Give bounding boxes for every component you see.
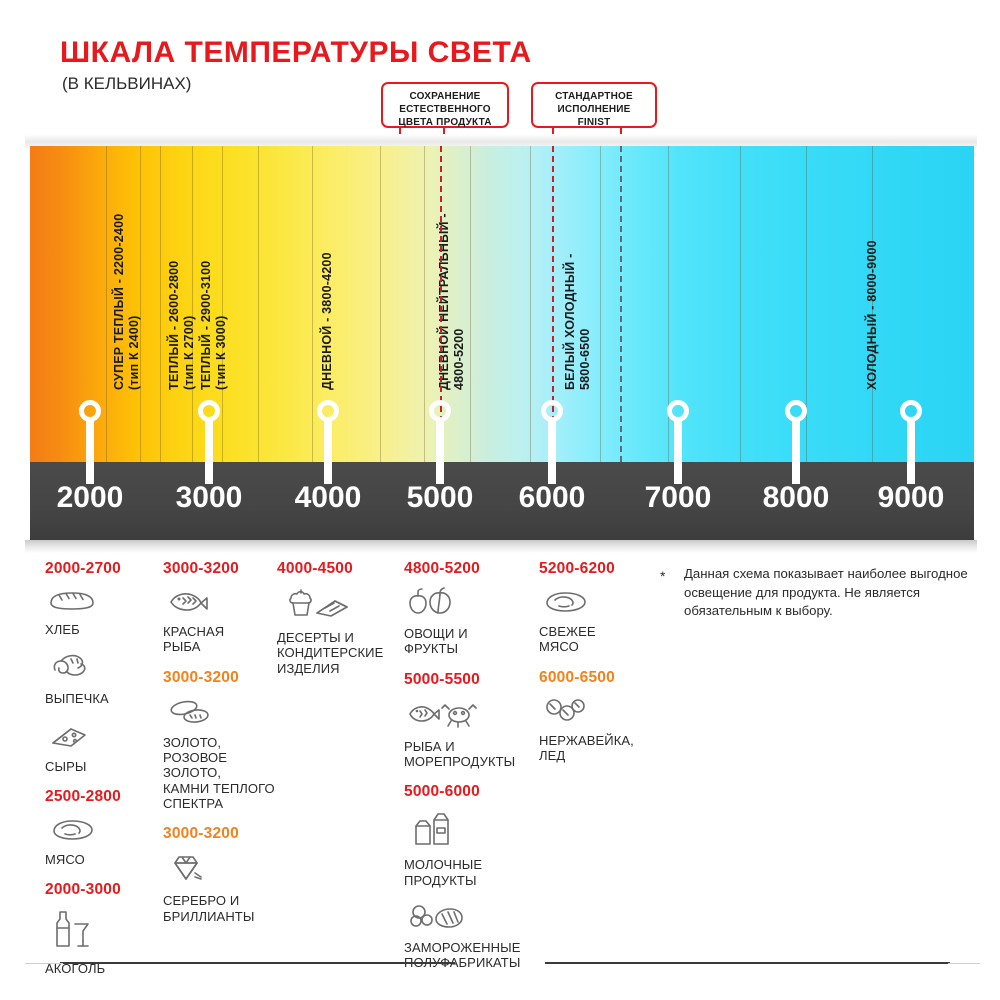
- rings-icon: [165, 696, 281, 731]
- footnote-asterisk: *: [660, 567, 665, 587]
- legend-item-label-line: СЫРЫ: [45, 759, 155, 774]
- marker-stem: [674, 420, 682, 484]
- scale-number-4000: 4000: [273, 481, 383, 515]
- infographic-root: ШКАЛА ТЕМПЕРАТУРЫ СВЕТА (В КЕЛЬВИНАХ) СО…: [0, 0, 1000, 1000]
- spectrum-divider: [258, 146, 259, 462]
- legend-group: 4800-5200ОВОЩИ ИФРУКТЫ: [404, 560, 534, 657]
- legend-column-5: 5200-6200СВЕЖЕЕМЯСО6000-6500НЕРЖАВЕЙКА,Л…: [539, 560, 657, 777]
- diamond-icon: [165, 852, 281, 889]
- legend-group: 5200-6200СВЕЖЕЕМЯСО: [539, 560, 657, 655]
- spectrum-divider: [424, 146, 425, 462]
- legend-item-label: РЫБА ИМОРЕПРОДУКТЫ: [404, 739, 534, 770]
- footnote: * Данная схема показывает наиболее выгод…: [660, 565, 980, 621]
- legend-item: РЫБА ИМОРЕПРОДУКТЫ: [404, 698, 534, 770]
- spectrum-divider: [740, 146, 741, 462]
- legend-item-label-line: ИЗДЕЛИЯ: [277, 661, 395, 676]
- legend-item-label-line: СВЕЖЕЕ: [539, 624, 657, 639]
- scale-number-8000: 8000: [741, 481, 851, 515]
- legend-group: 2000-2700ХЛЕБВЫПЕЧКАСЫРЫ: [45, 560, 155, 774]
- spectrum-dashline-standard-right: [620, 146, 622, 462]
- legend-item-label: СЕРЕБРО ИБРИЛЛИАНТЫ: [163, 893, 281, 924]
- legend-item-label-line: РОЗОВОЕ ЗОЛОТО,: [163, 750, 281, 781]
- page-title: ШКАЛА ТЕМПЕРАТУРЫ СВЕТА: [60, 36, 532, 70]
- legend-column-3: 4000-4500ДЕСЕРТЫ ИКОНДИТЕРСКИЕИЗДЕЛИЯ: [277, 560, 395, 690]
- band-label-line1: ДНЕВНОЙ - 3800-4200: [320, 252, 334, 390]
- band-label-line2: (тип К 2400): [127, 214, 142, 390]
- legend-item: ОВОЩИ ИФРУКТЫ: [404, 587, 534, 657]
- legend-item-label: МОЛОЧНЫЕ ПРОДУКТЫ: [404, 857, 534, 888]
- legend-group: 5000-5500РЫБА ИМОРЕПРОДУКТЫ: [404, 671, 534, 770]
- spectrum-divider: [312, 146, 313, 462]
- bottom-rule-soft-right: [948, 963, 980, 964]
- legend-range-label: 2000-3000: [45, 881, 155, 899]
- legend-item-label-line: БРИЛЛИАНТЫ: [163, 909, 281, 924]
- spectrum-divider: [530, 146, 531, 462]
- callout-standard: СТАНДАРТНОЕИСПОЛНЕНИЕFINIST: [531, 82, 657, 128]
- legend-range-label: 2500-2800: [45, 788, 155, 806]
- legend-item: МОЛОЧНЫЕ ПРОДУКТЫ: [404, 810, 534, 888]
- spectrum-band-label-white-cold: БЕЛЫЙ ХОЛОДНЫЙ -5800-6500: [563, 253, 593, 390]
- legend-item-label: ДЕСЕРТЫ ИКОНДИТЕРСКИЕИЗДЕЛИЯ: [277, 630, 395, 676]
- band-label-line2: 5800-6500: [578, 253, 593, 390]
- marker-stem: [436, 420, 444, 484]
- marker-ring-icon: [79, 400, 101, 422]
- legend-item: СЫРЫ: [45, 720, 155, 774]
- legend-item-label-line: ДЕСЕРТЫ И: [277, 630, 395, 645]
- legend-range-label: 3000-3200: [163, 560, 281, 578]
- legend-item-label-line: КРАСНАЯ: [163, 624, 281, 639]
- legend-item: ЗАМОРОЖЕННЫЕПОЛУФАБРИКАТЫ: [404, 901, 534, 971]
- legend-item: СЕРЕБРО ИБРИЛЛИАНТЫ: [163, 852, 281, 924]
- marker-stem: [205, 420, 213, 484]
- footnote-text: Данная схема показывает наиболее выгодно…: [684, 565, 980, 621]
- legend-range-label: 5200-6200: [539, 560, 657, 578]
- callout-natural: СОХРАНЕНИЕЕСТЕСТВЕННОГОЦВЕТА ПРОДУКТА: [381, 82, 509, 128]
- bottom-rule-soft-left: [25, 963, 63, 964]
- legend-item: НЕРЖАВЕЙКА,ЛЕД: [539, 696, 657, 764]
- legend-range-label: 3000-3200: [163, 669, 281, 687]
- legend-item: КРАСНАЯРЫБА: [163, 587, 281, 655]
- legend-item-label-line: ЗАМОРОЖЕННЫЕ: [404, 940, 534, 955]
- marker-stem: [792, 420, 800, 484]
- fresh-meat-icon: [541, 587, 657, 620]
- legend-item-label-line: СЕРЕБРО И: [163, 893, 281, 908]
- band-label-line1: ТЕПЛЫЙ - 2600-2800: [167, 261, 181, 390]
- legend-item: АКОГОЛЬ: [45, 908, 155, 976]
- legend-item-label: ЗАМОРОЖЕННЫЕПОЛУФАБРИКАТЫ: [404, 940, 534, 971]
- callout-standard-line: ИСПОЛНЕНИЕ: [539, 104, 649, 117]
- legend-item-label-line: МОЛОЧНЫЕ ПРОДУКТЫ: [404, 857, 534, 888]
- legend-item-label-line: МЯСО: [45, 852, 155, 867]
- scale-number-9000: 9000: [856, 481, 966, 515]
- scale-number-2000: 2000: [35, 481, 145, 515]
- marker-stem: [86, 420, 94, 484]
- legend-item: ЗОЛОТО,РОЗОВОЕ ЗОЛОТО,КАМНИ ТЕПЛОГОСПЕКТ…: [163, 696, 281, 812]
- legend-item-label-line: ОВОЩИ И: [404, 626, 534, 641]
- legend-item: МЯСО: [45, 815, 155, 867]
- spectrum-band-label-warm-2700: ТЕПЛЫЙ - 2600-2800(тип К 2700): [167, 261, 197, 390]
- legend-range-label: 4000-4500: [277, 560, 395, 578]
- page-subtitle: (В КЕЛЬВИНАХ): [62, 74, 191, 94]
- legend-column-2: 3000-3200КРАСНАЯРЫБА3000-3200ЗОЛОТО,РОЗО…: [163, 560, 281, 938]
- scale-number-5000: 5000: [385, 481, 495, 515]
- legend-item-label: ВЫПЕЧКА: [45, 691, 155, 706]
- legend-item-label-line: ЗОЛОТО,: [163, 735, 281, 750]
- legend-item-label: КРАСНАЯРЫБА: [163, 624, 281, 655]
- legend-item-label-line: МЯСО: [539, 639, 657, 654]
- band-label-line1: ТЕПЛЫЙ - 2900-3100: [199, 261, 213, 390]
- legend-item-label: СВЕЖЕЕМЯСО: [539, 624, 657, 655]
- legend-item: ХЛЕБ: [45, 587, 155, 637]
- legend-range-label: 3000-3200: [163, 825, 281, 843]
- steak-icon: [47, 815, 155, 848]
- band-label-line1: СУПЕР ТЕПЛЫЙ - 2200-2400: [112, 214, 126, 390]
- spectrum-band-label-cold: ХОЛОДНЫЙ - 8000-9000: [865, 240, 880, 390]
- croissant-icon: [47, 650, 155, 687]
- fish-icon: [165, 587, 281, 620]
- legend-item-label-line: ХЛЕБ: [45, 622, 155, 637]
- bottom-rule-left: [60, 962, 455, 964]
- legend-item: СВЕЖЕЕМЯСО: [539, 587, 657, 655]
- legend-range-label: 5000-6000: [404, 783, 534, 801]
- marker-ring-icon: [429, 400, 451, 422]
- legend-item-label-line: НЕРЖАВЕЙКА,: [539, 733, 657, 748]
- marker-stem: [907, 420, 915, 484]
- legend-group: 3000-3200ЗОЛОТО,РОЗОВОЕ ЗОЛОТО,КАМНИ ТЕП…: [163, 669, 281, 812]
- marker-ring-icon: [785, 400, 807, 422]
- cupcake-cake-icon: [279, 587, 395, 626]
- fruits-icon: [406, 587, 534, 622]
- callout-natural-line: ЦВЕТА ПРОДУКТА: [389, 117, 501, 130]
- legend-group: 3000-3200СЕРЕБРО ИБРИЛЛИАНТЫ: [163, 825, 281, 924]
- legend-group: 4000-4500ДЕСЕРТЫ ИКОНДИТЕРСКИЕИЗДЕЛИЯ: [277, 560, 395, 676]
- spectrum-band-label-super-warm: СУПЕР ТЕПЛЫЙ - 2200-2400(тип К 2400): [112, 214, 142, 390]
- legend-item-label: ЗОЛОТО,РОЗОВОЕ ЗОЛОТО,КАМНИ ТЕПЛОГОСПЕКТ…: [163, 735, 281, 812]
- bottom-rule-right: [545, 962, 950, 964]
- spectrum-divider: [380, 146, 381, 462]
- band-label-line1: БЕЛЫЙ ХОЛОДНЫЙ -: [563, 253, 577, 390]
- legend-range-label: 2000-2700: [45, 560, 155, 578]
- legend-group: 3000-3200КРАСНАЯРЫБА: [163, 560, 281, 655]
- band-label-line1: ХОЛОДНЫЙ - 8000-9000: [865, 240, 879, 390]
- band-label-line2: (тип К 2700): [182, 261, 197, 390]
- legend-item-label-line: КАМНИ ТЕПЛОГО: [163, 781, 281, 796]
- legend-group: 6000-6500НЕРЖАВЕЙКА,ЛЕД: [539, 669, 657, 764]
- legend-item-label: СЫРЫ: [45, 759, 155, 774]
- legend-item-label-line: ЛЕД: [539, 748, 657, 763]
- callout-standard-line: СТАНДАРТНОЕ: [539, 91, 649, 104]
- legend-column-1: 2000-2700ХЛЕБВЫПЕЧКАСЫРЫ2500-2800МЯСО200…: [45, 560, 155, 991]
- legend-range-label: 5000-5500: [404, 671, 534, 689]
- legend-item-label-line: СПЕКТРА: [163, 796, 281, 811]
- callout-natural-line: ЕСТЕСТВЕННОГО: [389, 104, 501, 117]
- band-label-line2: 4800-5200: [452, 213, 467, 390]
- kelvin-scale-bar: 20003000400050006000700080009000: [30, 462, 974, 540]
- cheese-icon: [47, 720, 155, 755]
- ice-icon: [541, 696, 657, 729]
- legend-column-4: 4800-5200ОВОЩИ ИФРУКТЫ5000-5500РЫБА ИМОР…: [404, 560, 534, 985]
- spectrum-band-label-daylight: ДНЕВНОЙ - 3800-4200: [320, 252, 335, 390]
- scale-number-7000: 7000: [623, 481, 733, 515]
- legend-range-label: 4800-5200: [404, 560, 534, 578]
- spectrum-divider: [106, 146, 107, 462]
- legend-item-label-line: РЫБА: [163, 639, 281, 654]
- spectrum-divider: [470, 146, 471, 462]
- scale-bottom-shadow: [25, 540, 977, 553]
- marker-stem: [548, 420, 556, 484]
- legend-item-label-line: ФРУКТЫ: [404, 641, 534, 656]
- legend-item: ВЫПЕЧКА: [45, 650, 155, 706]
- milk-icon: [406, 810, 534, 853]
- legend-group: 2500-2800МЯСО: [45, 788, 155, 867]
- legend-item-label: ХЛЕБ: [45, 622, 155, 637]
- legend-group: 5000-6000МОЛОЧНЫЕ ПРОДУКТЫЗАМОРОЖЕННЫЕПО…: [404, 783, 534, 970]
- callout-standard-line: FINIST: [539, 117, 649, 130]
- legend-item-label-line: КОНДИТЕРСКИЕ: [277, 645, 395, 660]
- legend-item-label: НЕРЖАВЕЙКА,ЛЕД: [539, 733, 657, 764]
- spectrum-band-label-warm-3000: ТЕПЛЫЙ - 2900-3100(тип К 3000): [199, 261, 229, 390]
- marker-stem: [324, 420, 332, 484]
- marker-ring-icon: [900, 400, 922, 422]
- bread-icon: [47, 587, 155, 618]
- legend-item-label-line: МОРЕПРОДУКТЫ: [404, 754, 534, 769]
- callout-natural-line: СОХРАНЕНИЕ: [389, 91, 501, 104]
- marker-ring-icon: [667, 400, 689, 422]
- legend-item-label-line: ВЫПЕЧКА: [45, 691, 155, 706]
- marker-ring-icon: [317, 400, 339, 422]
- legend-item-label: ОВОЩИ ИФРУКТЫ: [404, 626, 534, 657]
- legend-item-label: МЯСО: [45, 852, 155, 867]
- band-label-line2: (тип К 3000): [214, 261, 229, 390]
- scale-number-3000: 3000: [154, 481, 264, 515]
- fish-crab-icon: [406, 698, 534, 735]
- spectrum-divider: [160, 146, 161, 462]
- scale-number-6000: 6000: [497, 481, 607, 515]
- legend-range-label: 6000-6500: [539, 669, 657, 687]
- legend-item-label-line: РЫБА И: [404, 739, 534, 754]
- marker-ring-icon: [541, 400, 563, 422]
- spectrum-gradient-bar: СУПЕР ТЕПЛЫЙ - 2200-2400(тип К 2400)ТЕПЛ…: [30, 146, 974, 462]
- legend-item: ДЕСЕРТЫ ИКОНДИТЕРСКИЕИЗДЕЛИЯ: [277, 587, 395, 676]
- frozen-food-icon: [406, 901, 534, 936]
- spectrum-divider: [600, 146, 601, 462]
- marker-ring-icon: [198, 400, 220, 422]
- bottle-glass-icon: [47, 908, 155, 957]
